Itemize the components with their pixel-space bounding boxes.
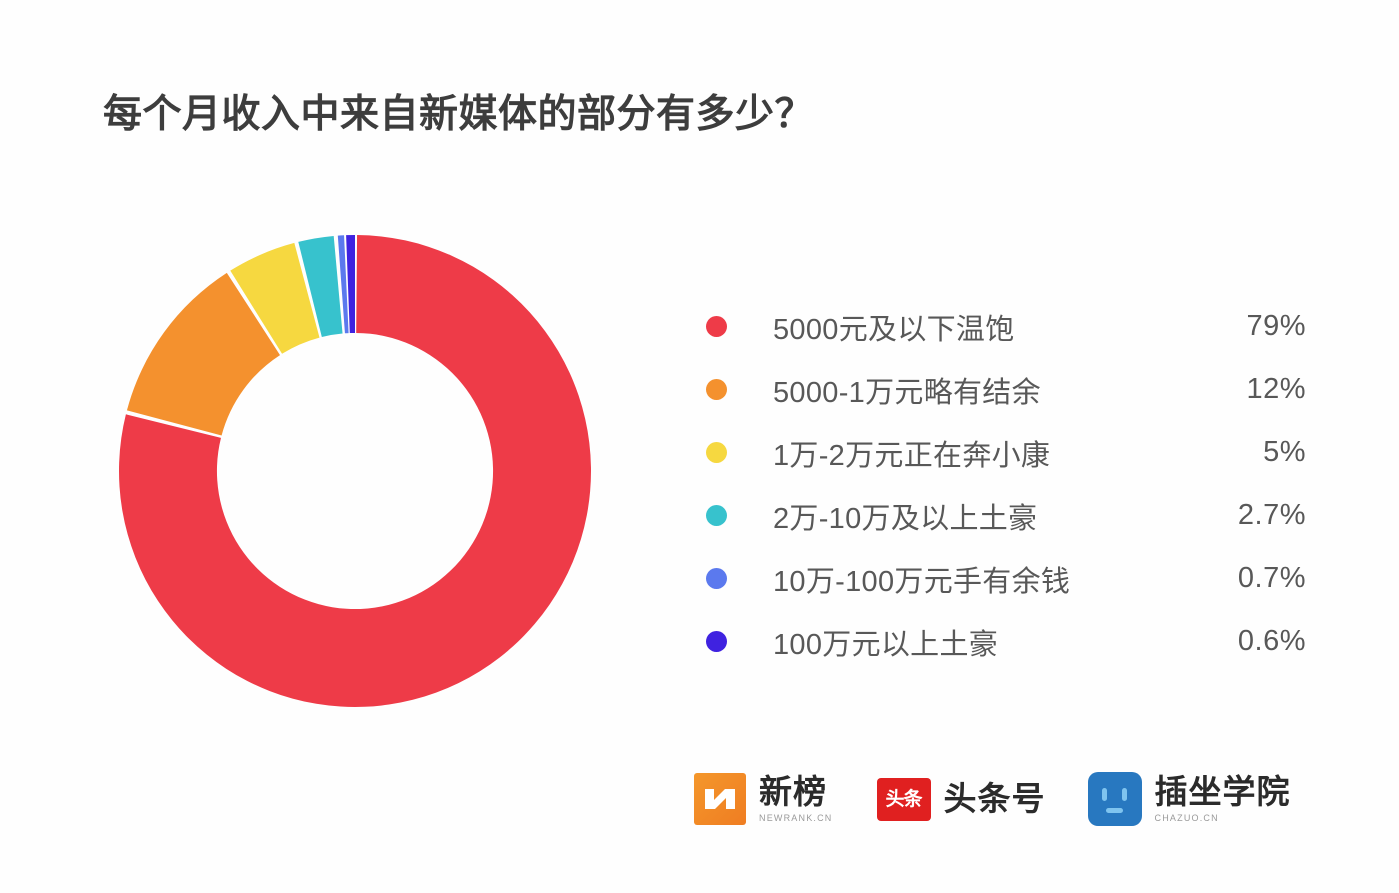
legend-value-0: 79%: [1186, 310, 1306, 343]
donut-chart: [112, 228, 598, 714]
newrank-n-mark-icon: [694, 773, 746, 825]
footer-logo-bar: 新榜 NEWRANK.CN 头条 头条号 插坐学院 CHAZUO.CN: [694, 772, 1291, 826]
logo-newrank[interactable]: 新榜 NEWRANK.CN: [694, 773, 833, 825]
legend-item-0[interactable]: 5000元及以下温饱 79%: [706, 295, 1306, 358]
chazuo-name: 插坐学院: [1155, 775, 1291, 810]
chazuo-text: 插坐学院 CHAZUO.CN: [1155, 775, 1291, 823]
chazuo-eye-left: [1102, 788, 1107, 801]
legend-value-2: 5%: [1186, 436, 1306, 469]
toutiao-mark-icon: 头条: [877, 778, 931, 821]
donut-slices: [119, 235, 591, 707]
newrank-sub: NEWRANK.CN: [759, 813, 833, 823]
newrank-text: 新榜 NEWRANK.CN: [759, 775, 833, 823]
legend-value-3: 2.7%: [1186, 499, 1306, 532]
legend-item-2[interactable]: 1万-2万元正在奔小康 5%: [706, 421, 1306, 484]
legend-value-1: 12%: [1186, 373, 1306, 406]
legend-label-3: 2万-10万及以上土豪: [773, 495, 1186, 537]
legend-swatch-icon-1: [706, 379, 727, 400]
chart-page: 每个月收入中来自新媒体的部分有多少？ 5000元及以下温饱 79% 5000-1…: [0, 0, 1399, 893]
newrank-name: 新榜: [759, 775, 833, 810]
toutiaohao-text: 头条号: [944, 782, 1046, 817]
donut-chart-svg: [112, 228, 598, 714]
logo-chazuo[interactable]: 插坐学院 CHAZUO.CN: [1088, 772, 1291, 826]
legend-item-4[interactable]: 10万-100万元手有余钱 0.7%: [706, 547, 1306, 610]
logo-toutiaohao[interactable]: 头条 头条号: [877, 778, 1046, 821]
legend-item-3[interactable]: 2万-10万及以上土豪 2.7%: [706, 484, 1306, 547]
legend-value-4: 0.7%: [1186, 562, 1306, 595]
legend-item-1[interactable]: 5000-1万元略有结余 12%: [706, 358, 1306, 421]
legend-label-2: 1万-2万元正在奔小康: [773, 432, 1186, 474]
legend-item-5[interactable]: 100万元以上土豪 0.6%: [706, 610, 1306, 673]
legend-value-5: 0.6%: [1186, 625, 1306, 658]
legend-swatch-icon-4: [706, 568, 727, 589]
legend-label-1: 5000-1万元略有结余: [773, 369, 1186, 411]
legend-swatch-icon-5: [706, 631, 727, 652]
legend-label-4: 10万-100万元手有余钱: [773, 558, 1186, 600]
chazuo-mouth: [1106, 808, 1123, 813]
legend-swatch-icon-0: [706, 316, 727, 337]
legend-swatch-icon-2: [706, 442, 727, 463]
chazuo-eye-right: [1122, 788, 1127, 801]
legend-swatch-icon-3: [706, 505, 727, 526]
legend-label-5: 100万元以上土豪: [773, 621, 1186, 663]
legend-label-0: 5000元及以下温饱: [773, 306, 1186, 348]
chazuo-sub: CHAZUO.CN: [1155, 813, 1291, 823]
chart-legend: 5000元及以下温饱 79% 5000-1万元略有结余 12% 1万-2万元正在…: [706, 295, 1306, 673]
toutiaohao-name: 头条号: [944, 782, 1046, 817]
page-title: 每个月收入中来自新媒体的部分有多少？: [103, 83, 814, 139]
chazuo-face-mark-icon: [1088, 772, 1142, 826]
